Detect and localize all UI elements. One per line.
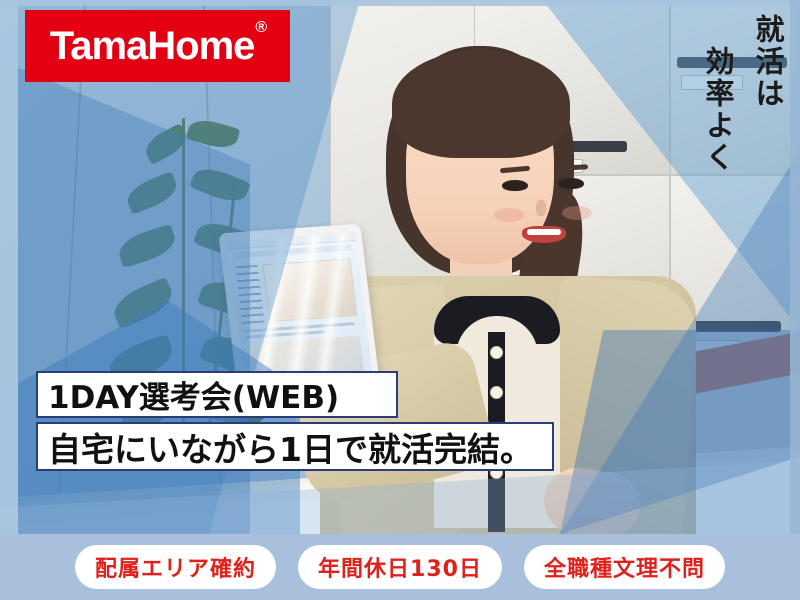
benefit-pill-label: 配属エリア確約 [95, 551, 256, 583]
benefit-pill-label: 全職種文理不問 [544, 551, 705, 583]
frame-edge-right [790, 0, 800, 534]
logo-wordmark: TamaHome® [50, 24, 265, 69]
blouse-button [490, 346, 503, 359]
cheek [562, 206, 592, 220]
benefits-bar: 配属エリア確約 年間休日130日 全職種文理不問 [0, 534, 800, 600]
cheek [494, 208, 524, 222]
frame-edge-left [0, 0, 18, 534]
nose [536, 200, 546, 216]
headline-box-primary: 1DAY選考会(WEB) [36, 371, 398, 418]
headline-box-secondary: 自宅にいながら1日で就活完結。 [36, 422, 554, 471]
headline-line2: 自宅にいながら1日で就活完結。 [48, 423, 533, 471]
bangs [392, 50, 570, 158]
benefit-pill-area[interactable]: 配属エリア確約 [75, 545, 276, 589]
benefit-pill-holidays[interactable]: 年間休日130日 [298, 545, 502, 589]
eye [502, 180, 528, 191]
recruitment-ad-banner: TamaHome® 就活は 効率よく 1DAY選考会(WEB) 自宅にいながら1… [0, 0, 800, 600]
vertical-catchcopy-left: 効率よく [703, 46, 732, 174]
eyebrow [558, 164, 588, 171]
frame-edge-top [0, 0, 800, 6]
vertical-catchcopy-right: 就活は [753, 14, 782, 110]
registered-trademark-icon: ® [255, 19, 266, 36]
eyebrow [500, 166, 530, 174]
mouth [522, 226, 566, 243]
eye [558, 178, 584, 189]
tamahome-logo[interactable]: TamaHome® [25, 10, 290, 82]
benefit-pill-majors[interactable]: 全職種文理不問 [524, 545, 725, 589]
benefit-pill-label: 年間休日130日 [318, 551, 482, 583]
logo-wordmark-text: TamaHome [50, 24, 255, 68]
blouse-button [490, 386, 503, 399]
headline-line1: 1DAY選考会(WEB) [48, 372, 339, 417]
